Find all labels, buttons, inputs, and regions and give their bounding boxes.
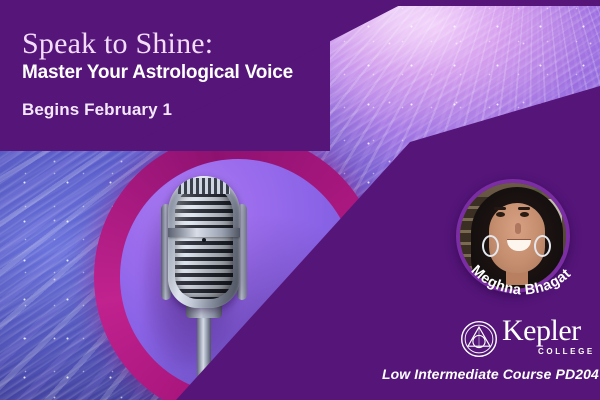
presenter-name: Meghna Bhagat xyxy=(468,262,574,298)
microphone-top-teeth xyxy=(178,178,230,194)
microphone-center-dot xyxy=(202,238,206,242)
retro-microphone-icon xyxy=(156,170,252,385)
page-title: Speak to Shine: xyxy=(22,29,213,59)
course-code-text: Low Intermediate Course PD204 xyxy=(382,366,599,382)
microphone-head xyxy=(168,176,240,308)
kepler-emblem-icon xyxy=(460,320,498,358)
logo-wordmark: Kepler xyxy=(502,316,581,346)
microphone-grille xyxy=(175,185,233,299)
kepler-college-logo: Kepler COLLEGE xyxy=(460,318,592,362)
start-date-text: Begins February 1 xyxy=(22,101,172,118)
course-promo-poster: Speak to Shine: Master Your Astrological… xyxy=(0,0,600,400)
page-subtitle: Master Your Astrological Voice xyxy=(22,63,293,82)
presenter-name-arc: Meghna Bhagat xyxy=(440,160,590,320)
microphone-band xyxy=(168,228,240,237)
logo-sub-wordmark: COLLEGE xyxy=(538,347,595,356)
presenter-name-text: Meghna Bhagat xyxy=(468,262,574,298)
